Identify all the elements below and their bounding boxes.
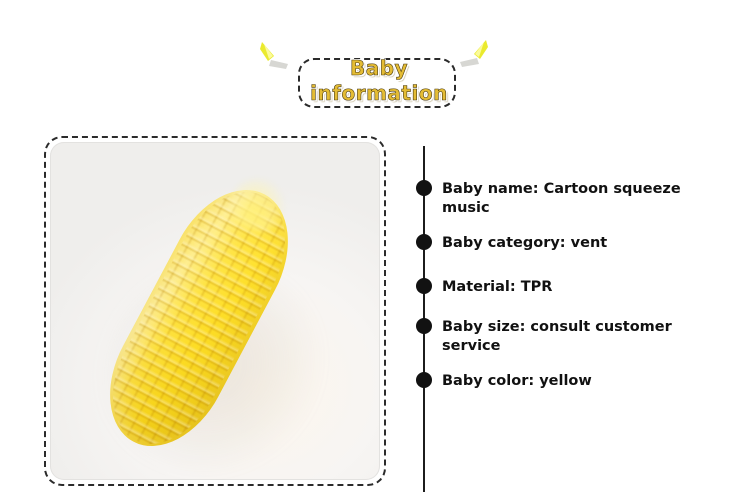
spec-label: Baby size: consult customer service xyxy=(442,318,722,356)
title-block: Baby information xyxy=(258,38,498,123)
spec-label: Baby color: yellow xyxy=(442,372,722,391)
bullet-icon xyxy=(416,372,432,388)
page-title: Baby information xyxy=(298,56,460,106)
spec-list: Baby name: Cartoon squeeze music Baby ca… xyxy=(410,146,730,494)
product-info-graphic: Baby information Baby name: Cartoon sque… xyxy=(0,0,750,500)
bullet-icon xyxy=(416,234,432,250)
product-photo xyxy=(50,142,380,480)
spec-label: Baby category: vent xyxy=(442,234,722,253)
bullet-icon xyxy=(416,180,432,196)
spec-label: Baby name: Cartoon squeeze music xyxy=(442,180,722,218)
spec-label: Material: TPR xyxy=(442,278,722,297)
product-image-panel xyxy=(44,136,386,486)
bullet-icon xyxy=(416,278,432,294)
bullet-icon xyxy=(416,318,432,334)
